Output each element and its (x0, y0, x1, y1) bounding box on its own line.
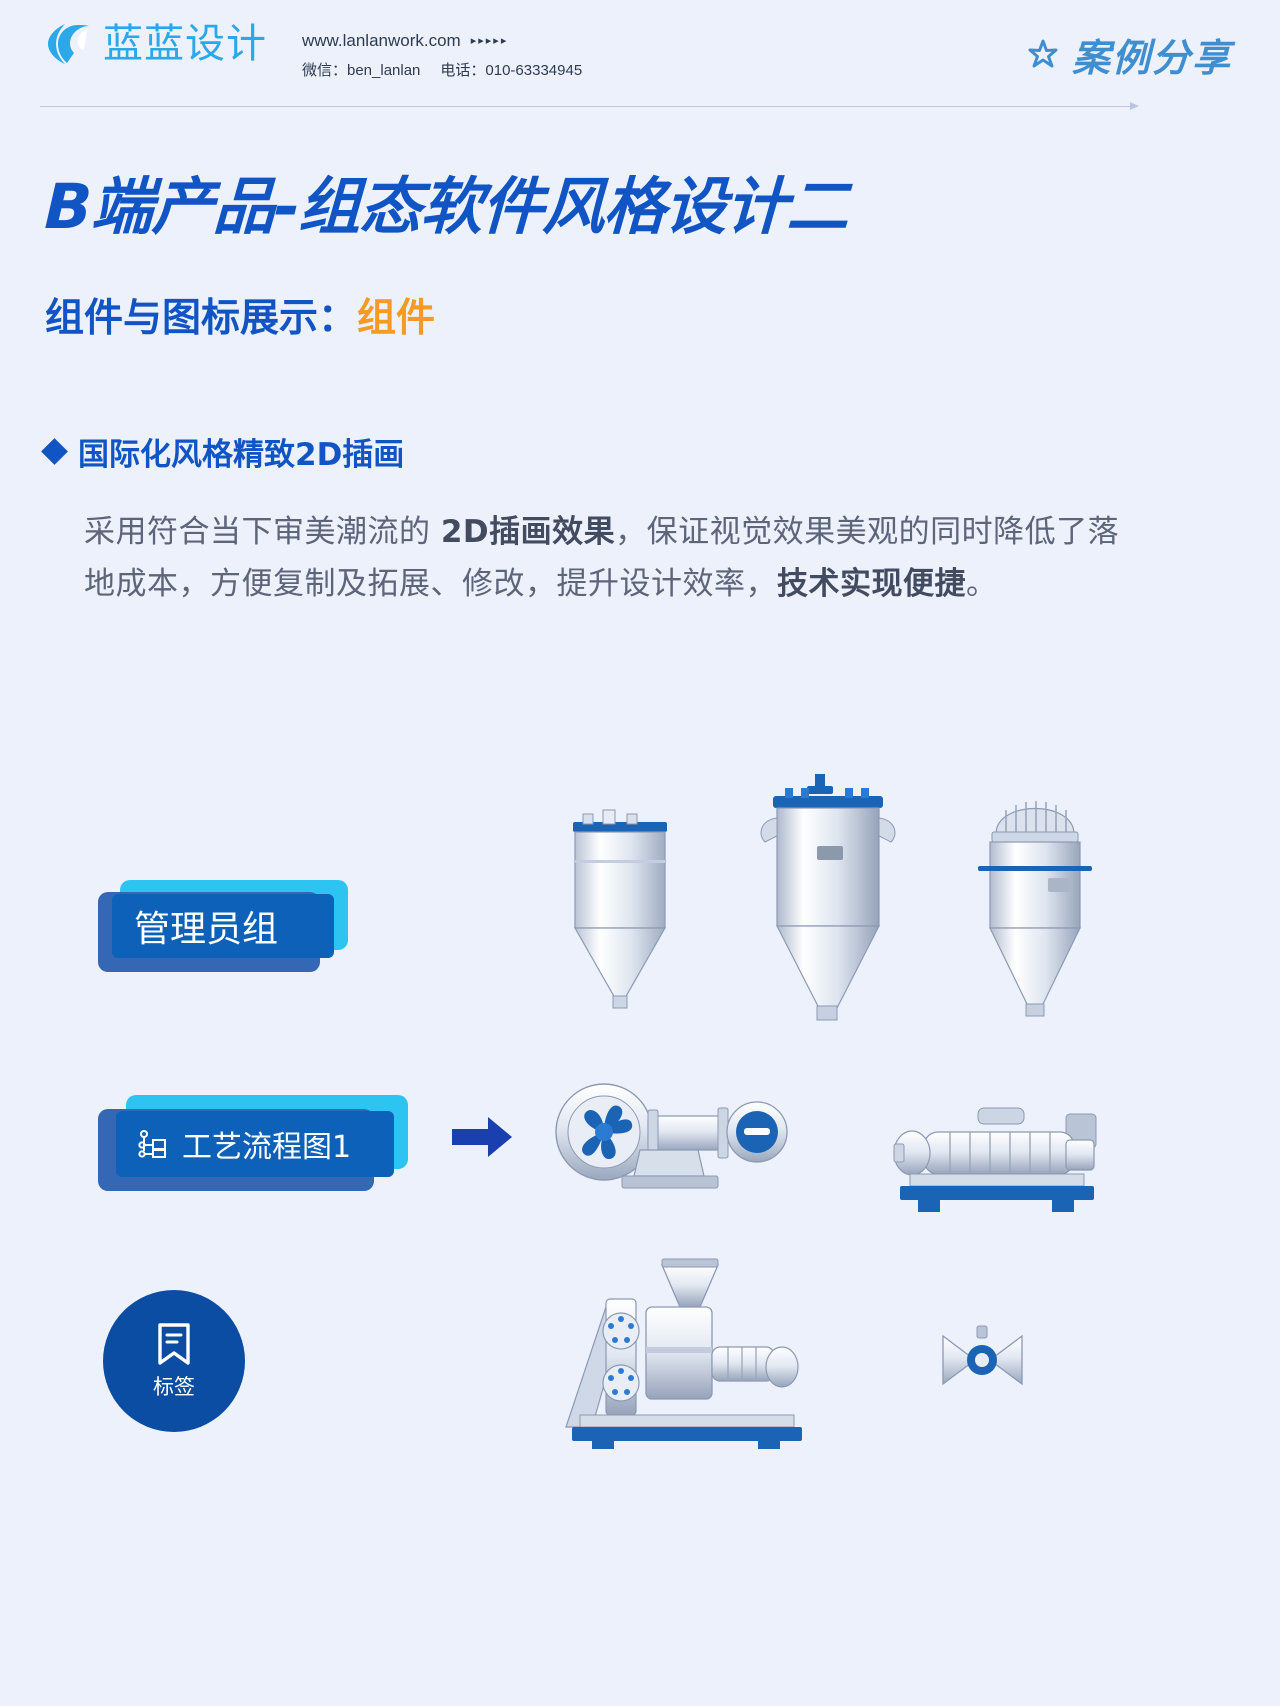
illustration-feeder-hopper-machine (550, 1255, 820, 1455)
admin-button-face[interactable]: 管理员组 (112, 894, 334, 958)
illustration-butterfly-valve (935, 1320, 1030, 1405)
arrow-dots-icon: ▸▸▸▸▸ (471, 33, 509, 50)
flow-button-face[interactable]: 工艺流程图1 (116, 1111, 394, 1177)
illustration-screw-pump-skid (880, 1100, 1110, 1225)
process-flow-button[interactable]: 工艺流程图1 (98, 1095, 408, 1191)
case-share-tag: 案例分享 (1026, 27, 1232, 82)
subtitle-accent: 组件 (357, 296, 435, 341)
illustration-silo-cyclone-large (745, 772, 910, 1027)
wechat-text: 微信：ben_lanlan (302, 59, 420, 82)
contact-website-row: www.lanlanwork.com ▸▸▸▸▸ (302, 28, 582, 54)
illustration-silo-cyclone-small (555, 800, 685, 1015)
contact-detail-row: 微信：ben_lanlan 电话：010-63334945 (302, 59, 582, 82)
page-title: B端产品-组态软件风格设计二 (43, 156, 849, 246)
admin-group-button[interactable]: 管理员组 (98, 880, 348, 972)
brand: 蓝蓝设计 (45, 20, 267, 68)
lanlan-logo-icon (45, 20, 93, 68)
bookmark-tag-icon (154, 1321, 194, 1367)
paragraph-bold-2: 技术实现便捷 (777, 566, 966, 602)
contact-block: www.lanlanwork.com ▸▸▸▸▸ 微信：ben_lanlan 电… (302, 28, 582, 83)
subtitle-prefix: 组件与图标展示： (45, 296, 357, 341)
page-header: 蓝蓝设计 www.lanlanwork.com ▸▸▸▸▸ 微信：ben_lan… (0, 0, 1280, 108)
section-subtitle: 组件与图标展示：组件 (45, 287, 435, 343)
brand-name: 蓝蓝设计 (103, 20, 267, 68)
sparkle-star-icon (1026, 38, 1060, 72)
arrow-right-icon (452, 1115, 514, 1159)
paragraph-part-3: 。 (966, 566, 998, 602)
section-paragraph: 采用符合当下审美潮流的 2D插画效果，保证视觉效果美观的同时降低了落地成本，方便… (84, 506, 1139, 610)
admin-button-label: 管理员组 (134, 900, 278, 952)
paragraph-bold-1: 2D插画效果 (441, 514, 615, 550)
section-heading: 国际化风格精致2D插画 (45, 429, 404, 474)
tag-badge[interactable]: 标签 (103, 1290, 245, 1432)
section-heading-label: 国际化风格精致2D插画 (78, 429, 404, 474)
diamond-bullet-icon (41, 438, 68, 465)
website-text: www.lanlanwork.com (302, 28, 461, 54)
illustration-silo-dome-filter (960, 780, 1110, 1030)
paragraph-part-1: 采用符合当下审美潮流的 (84, 514, 441, 550)
flow-button-label: 工艺流程图1 (182, 1122, 351, 1166)
component-showcase: 管理员组 工艺流程图1 (0, 760, 1280, 1460)
illustration-centrifugal-blower (552, 1080, 807, 1220)
share-label: 案例分享 (1072, 27, 1232, 82)
phone-text: 电话：010-63334945 (440, 59, 582, 82)
tag-badge-label: 标签 (153, 1371, 195, 1401)
slide-page: 蓝蓝设计 www.lanlanwork.com ▸▸▸▸▸ 微信：ben_lan… (0, 0, 1280, 1706)
header-divider (40, 106, 1130, 107)
sitemap-flow-icon (138, 1129, 168, 1159)
